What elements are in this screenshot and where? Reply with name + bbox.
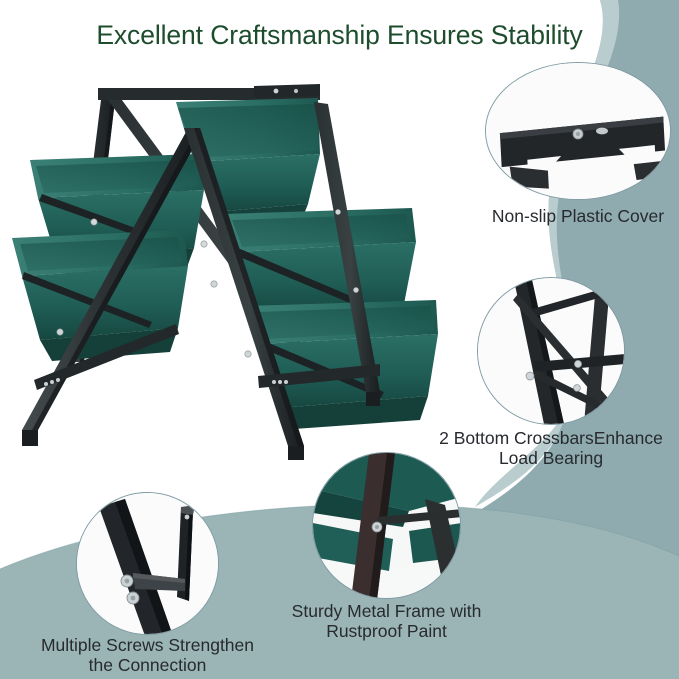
callout-caption-cover: Non-slip Plastic Cover [455, 207, 679, 227]
metal-frame-rustproof-paint-icon [312, 452, 461, 599]
callout-caption-crossbars: 2 Bottom CrossbarsEnhance Load Bearing [413, 429, 679, 468]
multiple-screws-icon [76, 492, 219, 635]
page-title: Excellent Craftsmanship Ensures Stabilit… [0, 20, 679, 51]
product-feature-infographic: Excellent Craftsmanship Ensures Stabilit… [0, 0, 679, 679]
product-image-planter-stand [8, 62, 438, 462]
bottom-crossbars-icon [477, 277, 625, 425]
callout-caption-frame: Sturdy Metal Frame with Rustproof Paint [287, 602, 486, 641]
callout-caption-screws: Multiple Screws Strengthen the Connectio… [24, 636, 271, 675]
non-slip-plastic-cover-icon [485, 62, 671, 200]
planter-mount-bar-top [254, 84, 320, 98]
